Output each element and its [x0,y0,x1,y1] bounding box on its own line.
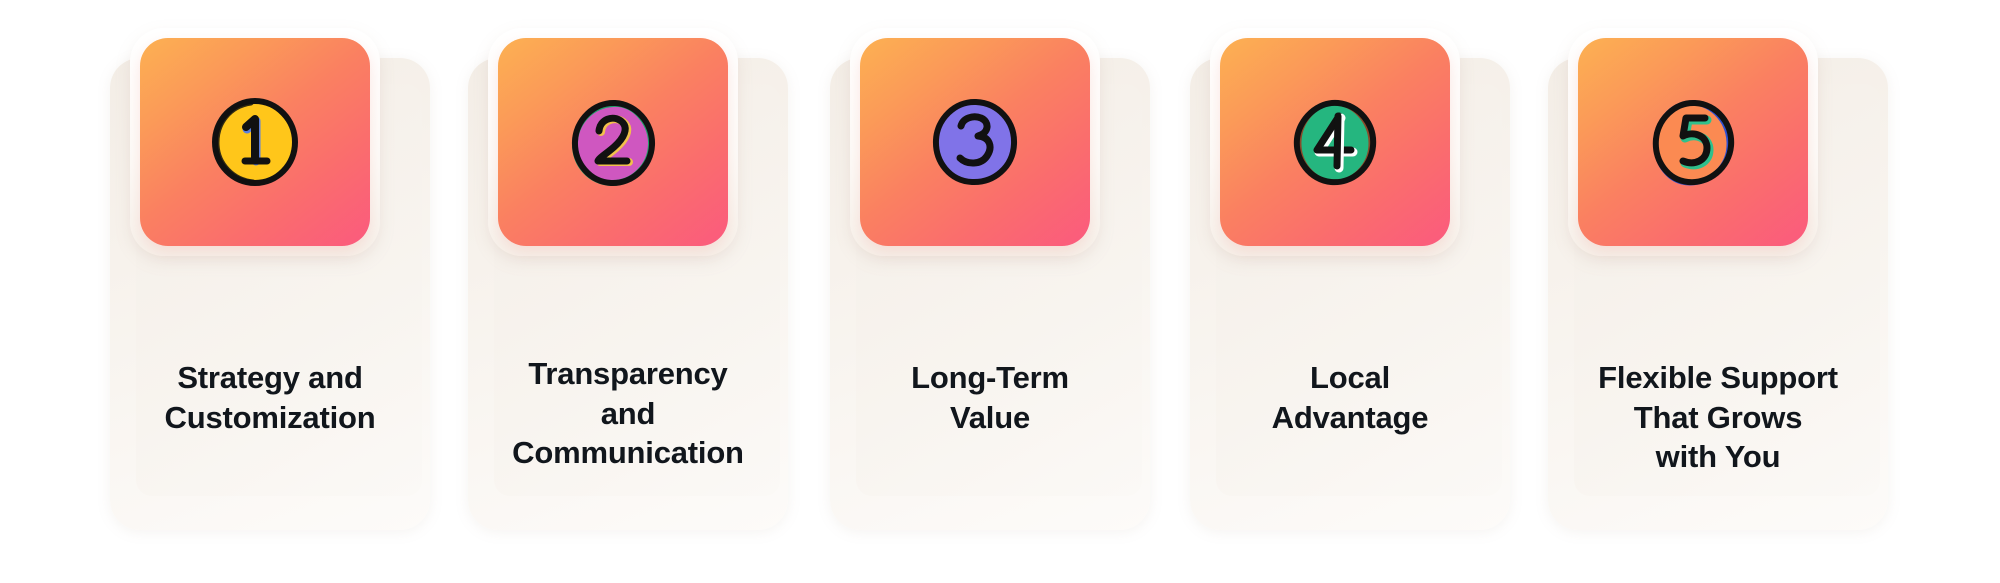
infographic-stage: 1 Strategy and Customization [0,0,2000,583]
number-badge-3: 3 [923,90,1027,194]
card-label-5: Flexible Support That Grows with You [1562,358,1874,477]
icon-tile-frame-3: 3 [850,28,1100,256]
card-label-line: Local [1204,358,1496,398]
number-badge-5: 5 [1641,90,1745,194]
card-label-1: Strategy and Customization [124,358,416,437]
icon-tile-frame-4: 4 [1210,28,1460,256]
icon-tile-5: 5 [1578,38,1808,246]
icon-tile-3: 3 [860,38,1090,246]
step-card-4[interactable]: 4 Local Advantage [1190,58,1510,530]
card-label-line: and [482,394,774,434]
icon-tile-1: 1 [140,38,370,246]
number-badge-4: 4 [1283,90,1387,194]
number-badge-2: 2 [561,90,665,194]
step-card-2[interactable]: 2 Transparency and Communication [468,58,788,530]
step-card-3[interactable]: 3 Long-Term Value [830,58,1150,530]
step-card-1[interactable]: 1 Strategy and Customization [110,58,430,530]
icon-tile-2: 2 [498,38,728,246]
number-badge-1: 1 [203,90,307,194]
card-label-4: Local Advantage [1204,358,1496,437]
card-label-line: Value [844,398,1136,438]
card-label-line: Transparency [482,354,774,394]
step-card-5[interactable]: 5 Flexible Support That Grows with You [1548,58,1888,530]
card-label-line: Customization [124,398,416,438]
card-label-line: with You [1562,437,1874,477]
icon-tile-frame-5: 5 [1568,28,1818,256]
card-label-line: Flexible Support [1562,358,1874,398]
icon-tile-frame-1: 1 [130,28,380,256]
card-label-line: That Grows [1562,398,1874,438]
card-label-line: Strategy and [124,358,416,398]
icon-tile-frame-2: 2 [488,28,738,256]
card-label-2: Transparency and Communication [482,354,774,473]
card-label-line: Communication [482,433,774,473]
card-label-3: Long-Term Value [844,358,1136,437]
card-label-line: Long-Term [844,358,1136,398]
card-label-line: Advantage [1204,398,1496,438]
icon-tile-4: 4 [1220,38,1450,246]
